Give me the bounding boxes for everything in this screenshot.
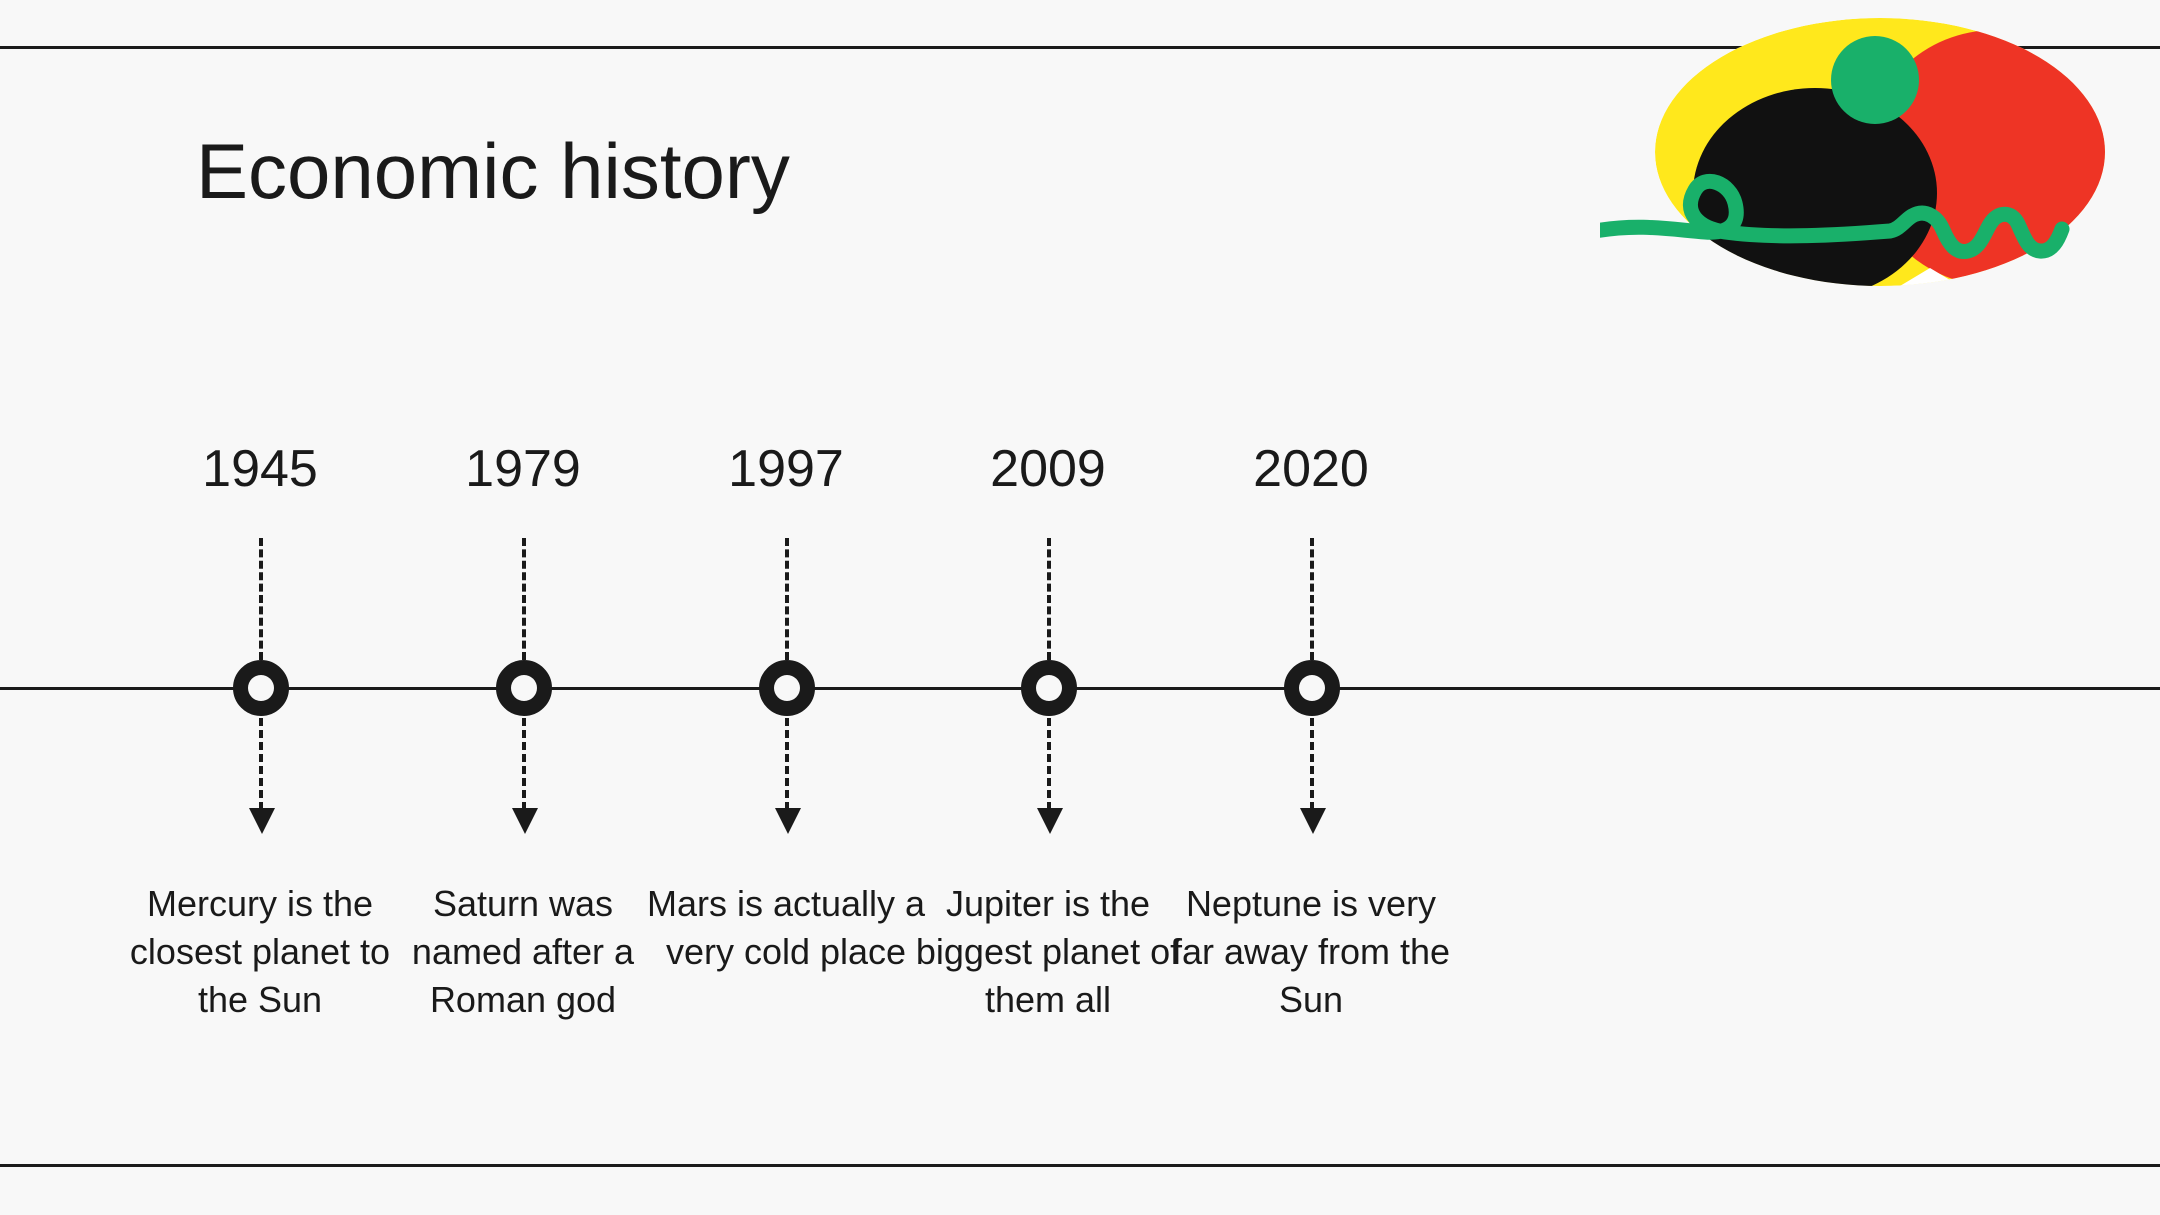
timeline: 1945 Mercury is the closest planet to th… <box>0 0 2160 1215</box>
event-stem-up <box>522 538 526 660</box>
event-node-marker[interactable] <box>1284 660 1340 716</box>
arrow-down-icon <box>512 808 538 834</box>
event-stem-down <box>1047 718 1051 810</box>
event-description: Mars is actually a very cold place <box>636 880 936 976</box>
arrow-down-icon <box>1300 808 1326 834</box>
event-stem-down <box>785 718 789 810</box>
timeline-event[interactable]: 1945 Mercury is the closest planet to th… <box>110 0 410 1215</box>
arrow-down-icon <box>775 808 801 834</box>
event-node-marker[interactable] <box>1021 660 1077 716</box>
event-stem-down <box>522 718 526 810</box>
arrow-down-icon <box>1037 808 1063 834</box>
event-stem-up <box>259 538 263 660</box>
timeline-event[interactable]: 2020 Neptune is very far away from the S… <box>1161 0 1461 1215</box>
event-year: 2009 <box>898 443 1198 495</box>
event-description: Mercury is the closest planet to the Sun <box>110 880 410 1024</box>
event-description: Neptune is very far away from the Sun <box>1161 880 1461 1024</box>
event-node-marker[interactable] <box>759 660 815 716</box>
event-year: 2020 <box>1161 443 1461 495</box>
event-year: 1997 <box>636 443 936 495</box>
event-stem-up <box>1310 538 1314 660</box>
timeline-event[interactable]: 1979 Saturn was named after a Roman god <box>373 0 673 1215</box>
event-year: 1945 <box>110 443 410 495</box>
event-year: 1979 <box>373 443 673 495</box>
event-stem-down <box>1310 718 1314 810</box>
event-node-marker[interactable] <box>233 660 289 716</box>
event-description: Jupiter is the biggest planet of them al… <box>898 880 1198 1024</box>
event-node-marker[interactable] <box>496 660 552 716</box>
event-description: Saturn was named after a Roman god <box>373 880 673 1024</box>
event-stem-up <box>1047 538 1051 660</box>
arrow-down-icon <box>249 808 275 834</box>
event-stem-up <box>785 538 789 660</box>
event-stem-down <box>259 718 263 810</box>
timeline-event[interactable]: 1997 Mars is actually a very cold place <box>636 0 936 1215</box>
timeline-event[interactable]: 2009 Jupiter is the biggest planet of th… <box>898 0 1198 1215</box>
